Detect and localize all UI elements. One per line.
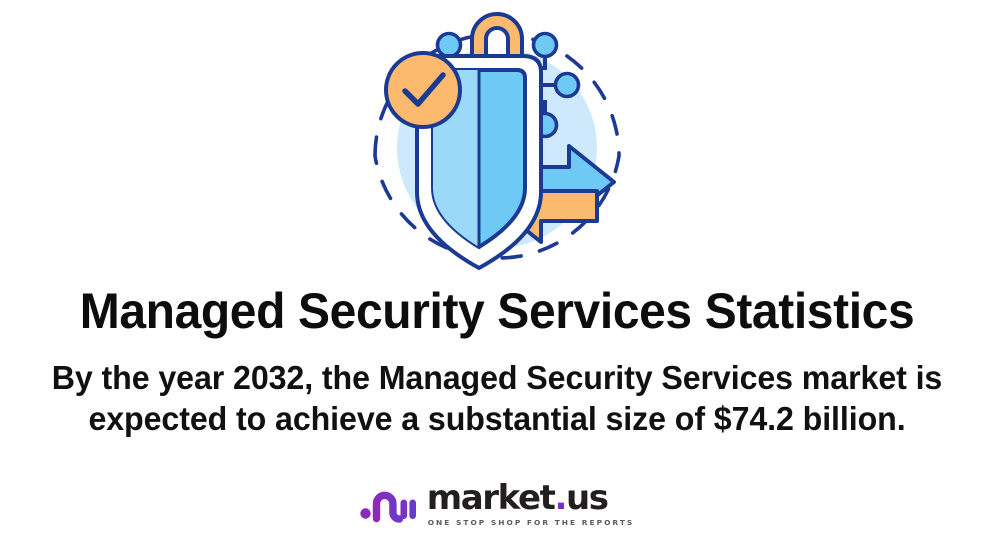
logo-wordmark-secondary: us <box>566 478 608 518</box>
page-title: Managed Security Services Statistics <box>20 284 974 338</box>
subtitle-line-2: expected to achieve a substantial size o… <box>44 398 951 439</box>
subtitle-line-1: By the year 2032, the Managed Security S… <box>44 357 951 398</box>
logo-wordmark-primary: market <box>427 478 555 518</box>
brand-logo[interactable]: market.us ONE STOP SHOP FOR THE REPORTS <box>360 481 635 528</box>
subtitle-block: By the year 2032, the Managed Security S… <box>32 357 962 439</box>
logo-wordmark: market.us <box>427 481 608 515</box>
checkmark-badge-icon <box>386 53 460 127</box>
logo-tagline: ONE STOP SHOP FOR THE REPORTS <box>428 518 635 528</box>
logo-wordmark-dot: . <box>554 478 566 518</box>
poster-canvas: Managed Security Services Statistics By … <box>0 0 994 560</box>
hero-illustration <box>347 6 647 274</box>
logo-text-group: market.us ONE STOP SHOP FOR THE REPORTS <box>427 481 635 528</box>
title-block: Managed Security Services Statistics <box>0 284 994 338</box>
market-us-logo-mark-icon <box>360 485 416 525</box>
